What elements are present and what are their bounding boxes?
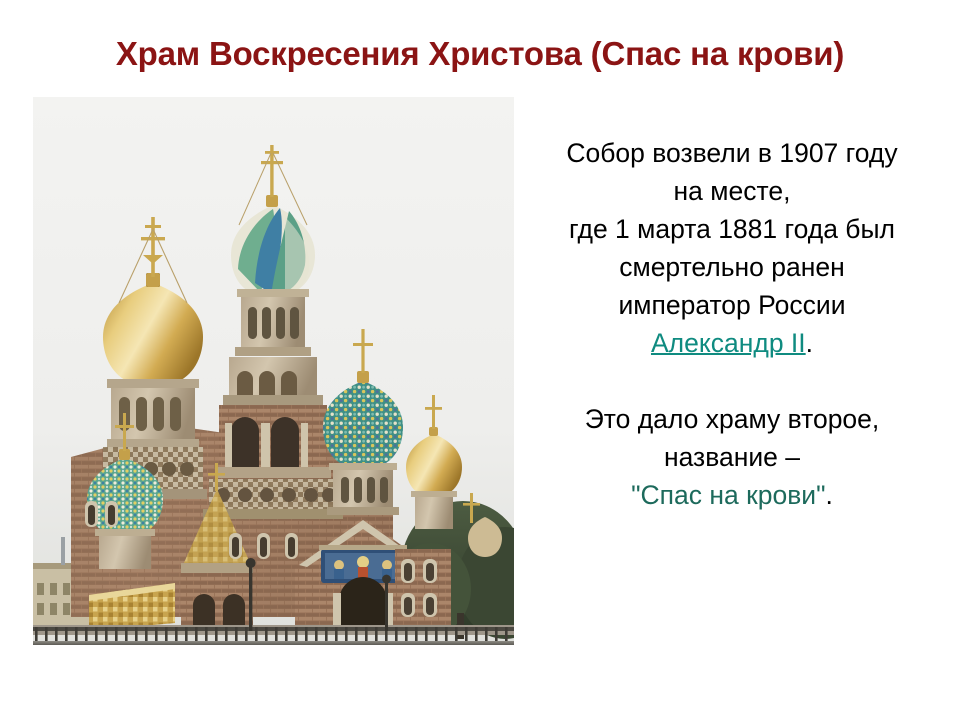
text-line-9: "Спас на крови". (512, 476, 952, 514)
text-line-8: название – (512, 438, 952, 476)
period-after-quote: . (825, 480, 832, 510)
text-line-6: Александр II. (512, 324, 952, 362)
paragraph-gap (512, 362, 952, 400)
page-title: Храм Воскресения Христова (Спас на крови… (0, 33, 960, 75)
text-line-5: император России (512, 286, 952, 324)
photo-container (33, 97, 514, 645)
text-line-7: Это дало храму второе, (512, 400, 952, 438)
text-line-2: на месте, (512, 172, 952, 210)
paragraph-1: Собор возвели в 1907 году на месте, где … (512, 134, 952, 362)
alexander-ii-link[interactable]: Александр II (651, 328, 806, 358)
text-line-1: Собор возвели в 1907 году (512, 134, 952, 172)
text-line-3: где 1 марта 1881 года был (512, 210, 952, 248)
paragraph-2: Это дало храму второе, название – "Спас … (512, 400, 952, 514)
period-after-link: . (806, 328, 813, 358)
text-line-4: смертельно ранен (512, 248, 952, 286)
body-text-block: Собор возвели в 1907 году на месте, где … (512, 134, 952, 514)
savior-on-blood-quote: "Спас на крови" (631, 480, 825, 510)
church-photo (33, 97, 514, 645)
slide-canvas: Храм Воскресения Христова (Спас на крови… (0, 0, 960, 720)
